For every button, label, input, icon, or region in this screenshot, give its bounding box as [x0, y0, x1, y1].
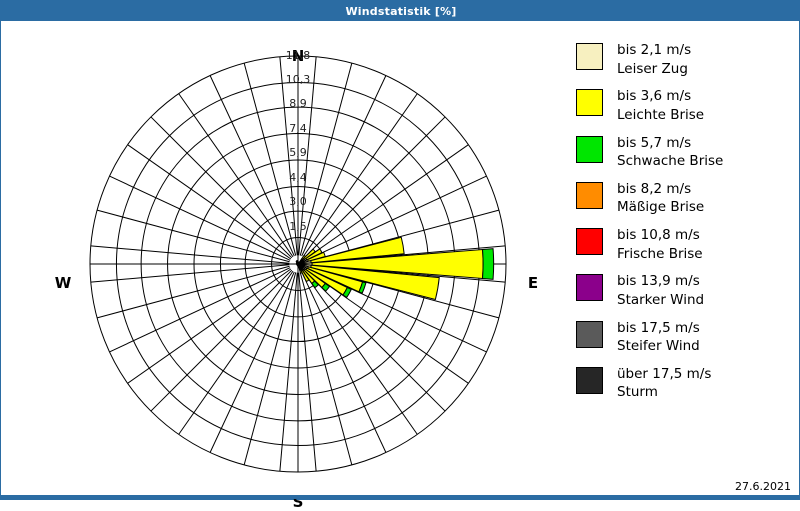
grid-spoke	[300, 272, 352, 464]
legend-item-speed: bis 8,2 m/s	[617, 181, 691, 197]
radial-tick-label: 10,3	[268, 73, 328, 86]
radial-tick-label: 5,9	[268, 146, 328, 159]
radial-tick-label: 11,8	[268, 49, 328, 62]
legend-item-text: bis 5,7 m/sSchwache Brise	[617, 134, 723, 171]
windrose-petal-segment	[297, 262, 298, 264]
radial-tick-label: 1,5	[268, 220, 328, 233]
legend-item-text: bis 2,1 m/sLeiser Zug	[617, 41, 691, 78]
grid-spoke	[128, 145, 291, 259]
legend-item-speed: bis 17,5 m/s	[617, 320, 700, 336]
windrose-svg	[2, 22, 562, 499]
legend-item-text: bis 17,5 m/sSteifer Wind	[617, 319, 700, 356]
legend-item-text: über 17,5 m/sSturm	[617, 365, 711, 402]
legend-item-name: Schwache Brise	[617, 152, 723, 171]
radial-tick-label: 7,4	[268, 122, 328, 135]
legend-item: bis 10,8 m/sFrische Brise	[576, 226, 791, 263]
swatch-leiser-zug	[576, 43, 603, 70]
legend-item-text: bis 8,2 m/sMäßige Brise	[617, 180, 704, 217]
grid-spoke	[91, 246, 290, 263]
legend-item-speed: bis 13,9 m/s	[617, 273, 700, 289]
legend-item: bis 3,6 m/sLeichte Brise	[576, 87, 791, 124]
footer-date: 27.6.2021	[735, 480, 791, 493]
grid-spoke	[304, 117, 445, 258]
legend-item: über 17,5 m/sSturm	[576, 365, 791, 402]
legend-item-speed: bis 3,6 m/s	[617, 88, 691, 104]
swatch-maessige-brise	[576, 182, 603, 209]
radial-tick-label: 8,9	[268, 97, 328, 110]
legend: bis 2,1 m/sLeiser Zugbis 3,6 m/sLeichte …	[576, 41, 791, 411]
swatch-leichte-brise	[576, 89, 603, 116]
legend-item-speed: bis 5,7 m/s	[617, 135, 691, 151]
swatch-steifer-wind	[576, 321, 603, 348]
swatch-sturm	[576, 367, 603, 394]
legend-item-text: bis 3,6 m/sLeichte Brise	[617, 87, 704, 124]
legend-item-name: Starker Wind	[617, 291, 704, 310]
grid-spoke	[97, 210, 289, 262]
legend-item-name: Steifer Wind	[617, 337, 700, 356]
legend-item-speed: über 17,5 m/s	[617, 366, 711, 382]
legend-item-name: Mäßige Brise	[617, 198, 704, 217]
radial-tick-label: 4,4	[268, 171, 328, 184]
legend-item-name: Leichte Brise	[617, 106, 704, 125]
grid-spoke	[151, 270, 292, 411]
grid-spoke	[280, 273, 297, 472]
grid-spoke	[91, 265, 290, 282]
swatch-schwache-brise	[576, 136, 603, 163]
grid-spoke	[179, 271, 293, 434]
legend-item-text: bis 13,9 m/sStarker Wind	[617, 272, 704, 309]
legend-item: bis 13,9 m/sStarker Wind	[576, 272, 791, 309]
window-title: Windstatistik [%]	[345, 5, 456, 18]
windrose-plot-area: N S W E 11,810,38,97,45,94,43,01,5	[2, 22, 562, 499]
windrose-window: Windstatistik [%] N S W E 11,810,38,97,4…	[0, 0, 800, 500]
legend-item-speed: bis 10,8 m/s	[617, 227, 700, 243]
grid-spoke	[303, 271, 417, 434]
legend-item-name: Frische Brise	[617, 245, 703, 264]
legend-item-text: bis 10,8 m/sFrische Brise	[617, 226, 703, 263]
legend-item: bis 17,5 m/sSteifer Wind	[576, 319, 791, 356]
legend-item-speed: bis 2,1 m/s	[617, 42, 691, 58]
legend-item-name: Leiser Zug	[617, 60, 691, 79]
window-titlebar: Windstatistik [%]	[1, 1, 800, 21]
windrose-petal-segment	[483, 249, 494, 280]
radial-tick-label: 3,0	[268, 195, 328, 208]
grid-spoke	[244, 272, 296, 464]
grid-spoke	[151, 117, 292, 258]
compass-label-west: W	[33, 274, 93, 292]
legend-item: bis 8,2 m/sMäßige Brise	[576, 180, 791, 217]
swatch-starker-wind	[576, 274, 603, 301]
swatch-frische-brise	[576, 228, 603, 255]
window-bottom-bar	[1, 495, 800, 499]
grid-spoke	[128, 269, 291, 383]
grid-spoke	[97, 266, 289, 318]
compass-label-east: E	[503, 274, 563, 292]
grid-spoke	[299, 273, 316, 472]
legend-item: bis 5,7 m/sSchwache Brise	[576, 134, 791, 171]
legend-item: bis 2,1 m/sLeiser Zug	[576, 41, 791, 78]
legend-item-name: Sturm	[617, 383, 711, 402]
